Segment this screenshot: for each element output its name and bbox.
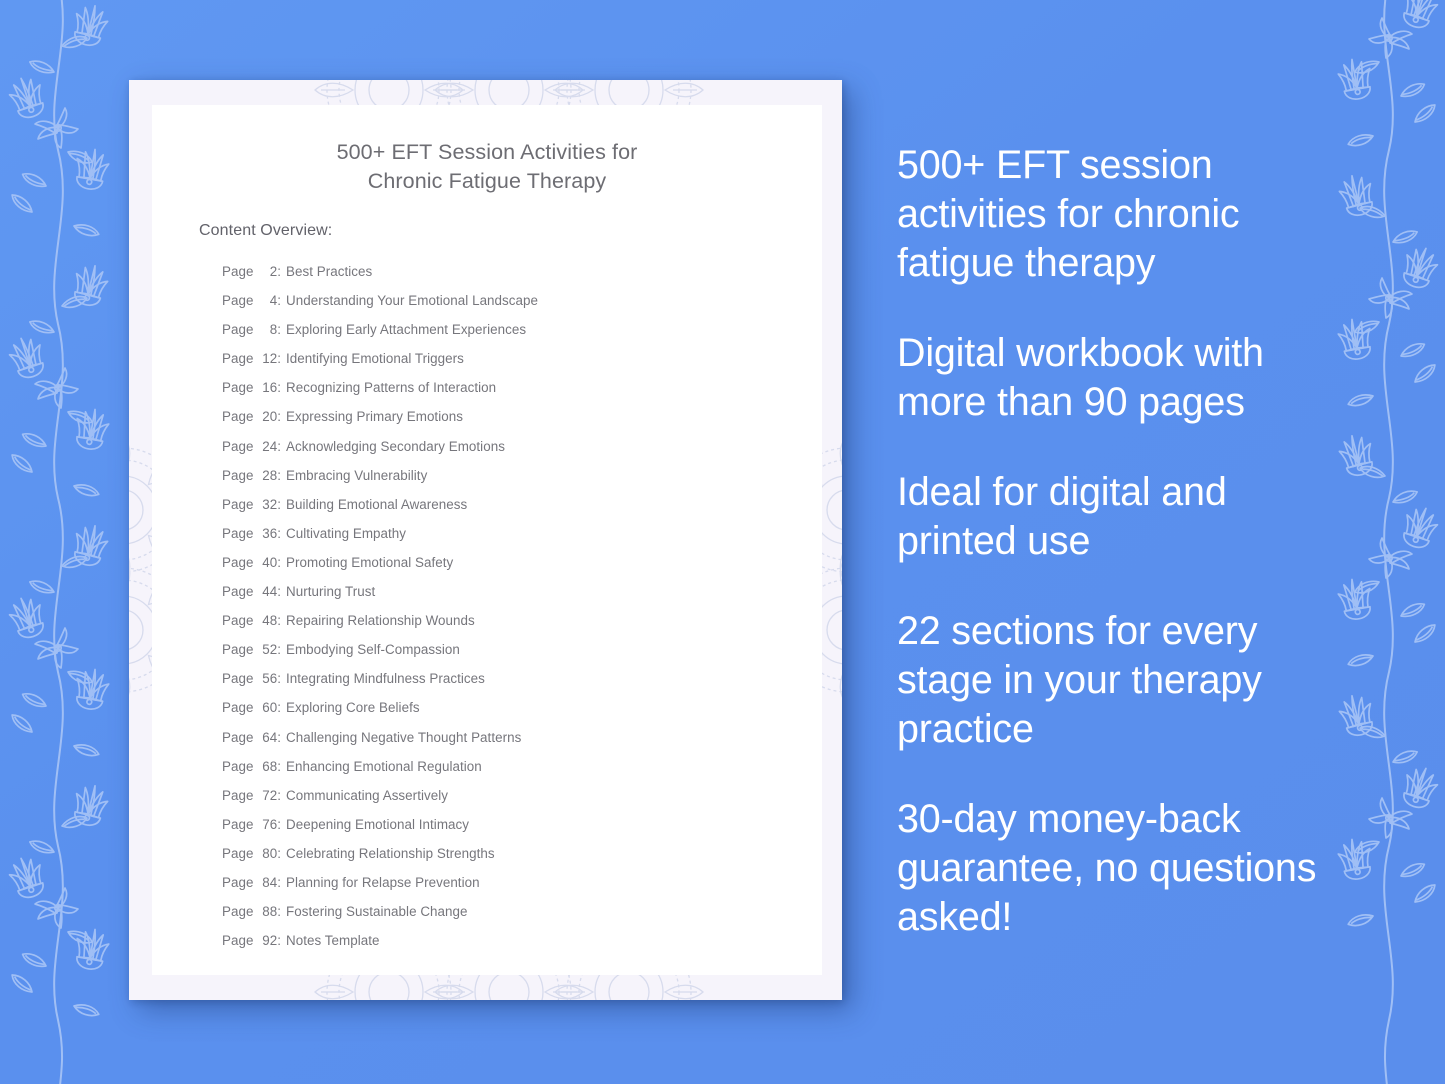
toc-page-number: Page 88: bbox=[222, 897, 279, 926]
toc-section-title: Understanding Your Emotional Landscape bbox=[286, 293, 538, 308]
toc-page-number: Page 36: bbox=[222, 519, 279, 548]
content-overview-label: Content Overview: bbox=[199, 222, 332, 240]
toc-row: Page 48:Repairing Relationship Wounds bbox=[222, 606, 802, 635]
toc-page-value: 88 bbox=[257, 897, 277, 926]
toc-row: Page 4:Understanding Your Emotional Land… bbox=[222, 286, 802, 315]
toc-section-title: Fostering Sustainable Change bbox=[286, 904, 468, 919]
toc-page-number: Page 20: bbox=[222, 402, 279, 431]
toc-page-number: Page 8: bbox=[222, 315, 279, 344]
toc-page-number: Page 60: bbox=[222, 693, 279, 722]
toc-separator: : bbox=[277, 730, 281, 745]
toc-section-title: Challenging Negative Thought Patterns bbox=[286, 730, 521, 745]
toc-page-number: Page 16: bbox=[222, 373, 279, 402]
toc-section-title: Deepening Emotional Intimacy bbox=[286, 817, 469, 832]
marketing-bullet: Digital workbook with more than 90 pages bbox=[897, 329, 1327, 427]
toc-page-number: Page 12: bbox=[222, 344, 279, 373]
toc-section-title: Planning for Relapse Prevention bbox=[286, 875, 480, 890]
toc-separator: : bbox=[277, 875, 281, 890]
toc-page-number: Page 48: bbox=[222, 606, 279, 635]
toc-page-value: 4 bbox=[257, 286, 277, 315]
toc-separator: : bbox=[277, 846, 281, 861]
toc-separator: : bbox=[277, 555, 281, 570]
toc-section-title: Exploring Early Attachment Experiences bbox=[286, 322, 526, 337]
toc-page-word: Page bbox=[222, 846, 253, 861]
toc-page-word: Page bbox=[222, 904, 253, 919]
toc-row: Page 60:Exploring Core Beliefs bbox=[222, 693, 802, 722]
toc-section-title: Acknowledging Secondary Emotions bbox=[286, 439, 505, 454]
toc-page-number: Page 80: bbox=[222, 839, 279, 868]
toc-page-number: Page 2: bbox=[222, 257, 279, 286]
toc-section-title: Enhancing Emotional Regulation bbox=[286, 759, 482, 774]
toc-row: Page 80:Celebrating Relationship Strengt… bbox=[222, 839, 802, 868]
toc-page-word: Page bbox=[222, 642, 253, 657]
toc-row: Page 56:Integrating Mindfulness Practice… bbox=[222, 664, 802, 693]
toc-separator: : bbox=[277, 584, 281, 599]
toc-separator: : bbox=[277, 788, 281, 803]
toc-row: Page 36:Cultivating Empathy bbox=[222, 519, 802, 548]
page-title: 500+ EFT Session Activities for Chronic … bbox=[152, 138, 822, 196]
toc-section-title: Integrating Mindfulness Practices bbox=[286, 671, 485, 686]
toc-page-number: Page 40: bbox=[222, 548, 279, 577]
toc-section-title: Communicating Assertively bbox=[286, 788, 448, 803]
product-preview-card[interactable]: 500+ EFT Session Activities for Chronic … bbox=[129, 80, 842, 1000]
toc-separator: : bbox=[277, 817, 281, 832]
toc-row: Page 72:Communicating Assertively bbox=[222, 781, 802, 810]
toc-page-number: Page 84: bbox=[222, 868, 279, 897]
toc-page-number: Page 4: bbox=[222, 286, 279, 315]
toc-section-title: Recognizing Patterns of Interaction bbox=[286, 380, 496, 395]
page-title-line-2: Chronic Fatigue Therapy bbox=[152, 167, 822, 196]
toc-row: Page 76:Deepening Emotional Intimacy bbox=[222, 810, 802, 839]
toc-separator: : bbox=[277, 351, 281, 366]
toc-row: Page 44:Nurturing Trust bbox=[222, 577, 802, 606]
toc-section-title: Embracing Vulnerability bbox=[286, 468, 427, 483]
toc-separator: : bbox=[277, 264, 281, 279]
toc-separator: : bbox=[277, 497, 281, 512]
toc-separator: : bbox=[277, 700, 281, 715]
toc-section-title: Notes Template bbox=[286, 933, 380, 948]
toc-page-value: 8 bbox=[257, 315, 277, 344]
marketing-bullet: 500+ EFT session activities for chronic … bbox=[897, 141, 1327, 288]
toc-page-value: 64 bbox=[257, 723, 277, 752]
toc-row: Page 92:Notes Template bbox=[222, 926, 802, 955]
toc-page-value: 40 bbox=[257, 548, 277, 577]
toc-page-word: Page bbox=[222, 730, 253, 745]
toc-row: Page 12:Identifying Emotional Triggers bbox=[222, 344, 802, 373]
toc-page-word: Page bbox=[222, 613, 253, 628]
toc-page-value: 84 bbox=[257, 868, 277, 897]
toc-row: Page 84:Planning for Relapse Prevention bbox=[222, 868, 802, 897]
toc-page-word: Page bbox=[222, 671, 253, 686]
toc-page-word: Page bbox=[222, 788, 253, 803]
toc-page-value: 20 bbox=[257, 402, 277, 431]
toc-section-title: Promoting Emotional Safety bbox=[286, 555, 453, 570]
toc-page-value: 2 bbox=[257, 257, 277, 286]
toc-row: Page 28:Embracing Vulnerability bbox=[222, 461, 802, 490]
toc-page-value: 80 bbox=[257, 839, 277, 868]
toc-separator: : bbox=[277, 526, 281, 541]
toc-page-value: 12 bbox=[257, 344, 277, 373]
toc-separator: : bbox=[277, 380, 281, 395]
toc-separator: : bbox=[277, 904, 281, 919]
toc-page-number: Page 32: bbox=[222, 490, 279, 519]
toc-row: Page 2:Best Practices bbox=[222, 257, 802, 286]
toc-page-word: Page bbox=[222, 409, 253, 424]
toc-section-title: Exploring Core Beliefs bbox=[286, 700, 420, 715]
toc-section-title: Best Practices bbox=[286, 264, 372, 279]
toc-page-number: Page 56: bbox=[222, 664, 279, 693]
toc-page-word: Page bbox=[222, 584, 253, 599]
toc-page-word: Page bbox=[222, 468, 253, 483]
toc-page-word: Page bbox=[222, 759, 253, 774]
toc-page-word: Page bbox=[222, 497, 253, 512]
toc-page-word: Page bbox=[222, 293, 253, 308]
toc-row: Page 20:Expressing Primary Emotions bbox=[222, 402, 802, 431]
toc-page-word: Page bbox=[222, 817, 253, 832]
toc-section-title: Building Emotional Awareness bbox=[286, 497, 467, 512]
document-page-sheet: 500+ EFT Session Activities for Chronic … bbox=[152, 105, 822, 975]
toc-separator: : bbox=[277, 933, 281, 948]
toc-page-word: Page bbox=[222, 439, 253, 454]
toc-separator: : bbox=[277, 759, 281, 774]
toc-page-number: Page 68: bbox=[222, 752, 279, 781]
toc-page-word: Page bbox=[222, 322, 253, 337]
toc-row: Page 24:Acknowledging Secondary Emotions bbox=[222, 432, 802, 461]
marketing-copy-list: 500+ EFT session activities for chronic … bbox=[897, 141, 1327, 942]
marketing-bullet: Ideal for digital and printed use bbox=[897, 468, 1327, 566]
toc-page-value: 76 bbox=[257, 810, 277, 839]
toc-page-value: 52 bbox=[257, 635, 277, 664]
toc-page-number: Page 92: bbox=[222, 926, 279, 955]
toc-section-title: Embodying Self-Compassion bbox=[286, 642, 460, 657]
toc-section-title: Expressing Primary Emotions bbox=[286, 409, 463, 424]
toc-page-word: Page bbox=[222, 875, 253, 890]
toc-page-number: Page 64: bbox=[222, 723, 279, 752]
toc-page-value: 72 bbox=[257, 781, 277, 810]
toc-page-word: Page bbox=[222, 700, 253, 715]
page-title-line-1: 500+ EFT Session Activities for bbox=[152, 138, 822, 167]
toc-section-title: Nurturing Trust bbox=[286, 584, 375, 599]
toc-page-value: 16 bbox=[257, 373, 277, 402]
toc-page-value: 48 bbox=[257, 606, 277, 635]
toc-row: Page 64:Challenging Negative Thought Pat… bbox=[222, 723, 802, 752]
toc-section-title: Celebrating Relationship Strengths bbox=[286, 846, 495, 861]
toc-page-word: Page bbox=[222, 351, 253, 366]
toc-page-value: 28 bbox=[257, 461, 277, 490]
toc-page-value: 36 bbox=[257, 519, 277, 548]
toc-separator: : bbox=[277, 468, 281, 483]
toc-page-value: 32 bbox=[257, 490, 277, 519]
toc-section-title: Cultivating Empathy bbox=[286, 526, 406, 541]
toc-page-number: Page 44: bbox=[222, 577, 279, 606]
toc-page-value: 44 bbox=[257, 577, 277, 606]
toc-row: Page 40:Promoting Emotional Safety bbox=[222, 548, 802, 577]
toc-separator: : bbox=[277, 322, 281, 337]
toc-page-value: 92 bbox=[257, 926, 277, 955]
toc-separator: : bbox=[277, 293, 281, 308]
toc-page-word: Page bbox=[222, 526, 253, 541]
toc-section-title: Repairing Relationship Wounds bbox=[286, 613, 475, 628]
toc-page-number: Page 52: bbox=[222, 635, 279, 664]
toc-row: Page 52:Embodying Self-Compassion bbox=[222, 635, 802, 664]
toc-separator: : bbox=[277, 439, 281, 454]
toc-page-number: Page 24: bbox=[222, 432, 279, 461]
toc-page-value: 68 bbox=[257, 752, 277, 781]
marketing-bullet: 22 sections for every stage in your ther… bbox=[897, 607, 1327, 754]
toc-separator: : bbox=[277, 642, 281, 657]
toc-row: Page 32:Building Emotional Awareness bbox=[222, 490, 802, 519]
toc-separator: : bbox=[277, 409, 281, 424]
toc-page-word: Page bbox=[222, 933, 253, 948]
toc-page-value: 60 bbox=[257, 693, 277, 722]
toc-separator: : bbox=[277, 671, 281, 686]
toc-page-value: 24 bbox=[257, 432, 277, 461]
toc-page-number: Page 72: bbox=[222, 781, 279, 810]
toc-page-number: Page 76: bbox=[222, 810, 279, 839]
toc-page-value: 56 bbox=[257, 664, 277, 693]
toc-row: Page 88:Fostering Sustainable Change bbox=[222, 897, 802, 926]
toc-row: Page 16:Recognizing Patterns of Interact… bbox=[222, 373, 802, 402]
table-of-contents-list: Page 2:Best PracticesPage 4:Understandin… bbox=[222, 257, 802, 955]
toc-separator: : bbox=[277, 613, 281, 628]
marketing-bullet: 30-day money-back guarantee, no question… bbox=[897, 795, 1327, 942]
toc-page-word: Page bbox=[222, 264, 253, 279]
toc-row: Page 68:Enhancing Emotional Regulation bbox=[222, 752, 802, 781]
toc-row: Page 8:Exploring Early Attachment Experi… bbox=[222, 315, 802, 344]
toc-page-word: Page bbox=[222, 555, 253, 570]
toc-page-number: Page 28: bbox=[222, 461, 279, 490]
toc-section-title: Identifying Emotional Triggers bbox=[286, 351, 464, 366]
toc-page-word: Page bbox=[222, 380, 253, 395]
